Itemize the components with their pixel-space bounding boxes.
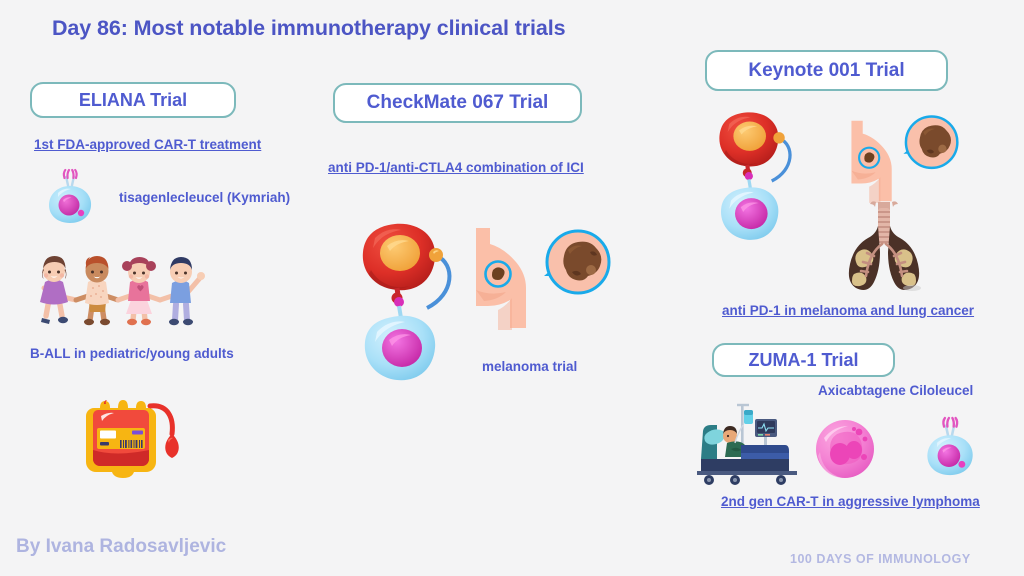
pill-keynote-trial[interactable]: Keynote 001 Trial [705, 50, 948, 91]
lymphoma-cell-icon [814, 418, 876, 480]
checkmate-headline: anti PD-1/anti-CTLA4 combination of ICI [328, 160, 584, 175]
eliana-headline: 1st FDA-approved CAR-T treatment [34, 137, 261, 152]
hospital-bed-patient-icon [697, 405, 805, 487]
infographic-canvas: Day 86: Most notable immunotherapy clini… [0, 0, 1024, 576]
car-t-cell-icon [44, 168, 96, 224]
melanoma-magnifier-icon-right [890, 114, 960, 182]
tumor-t-cell-complex-right [713, 110, 819, 252]
checkmate-indication: melanoma trial [482, 359, 577, 374]
tumor-t-cell-complex-middle [355, 222, 485, 394]
author-byline: By Ivana Radosavljevic [16, 536, 226, 558]
blood-bag-icon [80, 400, 188, 482]
pill-eliana-trial[interactable]: ELIANA Trial [30, 82, 236, 118]
page-title: Day 86: Most notable immunotherapy clini… [52, 16, 566, 41]
pill-checkmate-label: CheckMate 067 Trial [367, 92, 549, 114]
eliana-indication: B-ALL in pediatric/young adults [30, 346, 234, 361]
car-t-cell-icon-zuma [922, 415, 978, 477]
diseased-lungs-icon [838, 200, 930, 292]
pill-checkmate-trial[interactable]: CheckMate 067 Trial [333, 83, 582, 123]
eliana-drug-label: tisagenlecleucel (Kymriah) [119, 190, 290, 205]
pill-keynote-label: Keynote 001 Trial [748, 60, 904, 82]
pill-eliana-label: ELIANA Trial [79, 90, 187, 111]
zuma-drug-label: Axicabtagene Ciloleucel [818, 383, 973, 398]
zuma-headline: 2nd gen CAR-T in aggressive lymphoma [721, 494, 980, 509]
series-tag: 100 DAYS OF IMMUNOLOGY [790, 552, 971, 566]
pill-zuma-label: ZUMA-1 Trial [748, 350, 858, 371]
children-group-icon [32, 250, 210, 328]
pill-zuma-trial[interactable]: ZUMA-1 Trial [712, 343, 895, 377]
melanoma-magnifier-icon [528, 228, 612, 310]
keynote-headline: anti PD-1 in melanoma and lung cancer [722, 303, 974, 318]
